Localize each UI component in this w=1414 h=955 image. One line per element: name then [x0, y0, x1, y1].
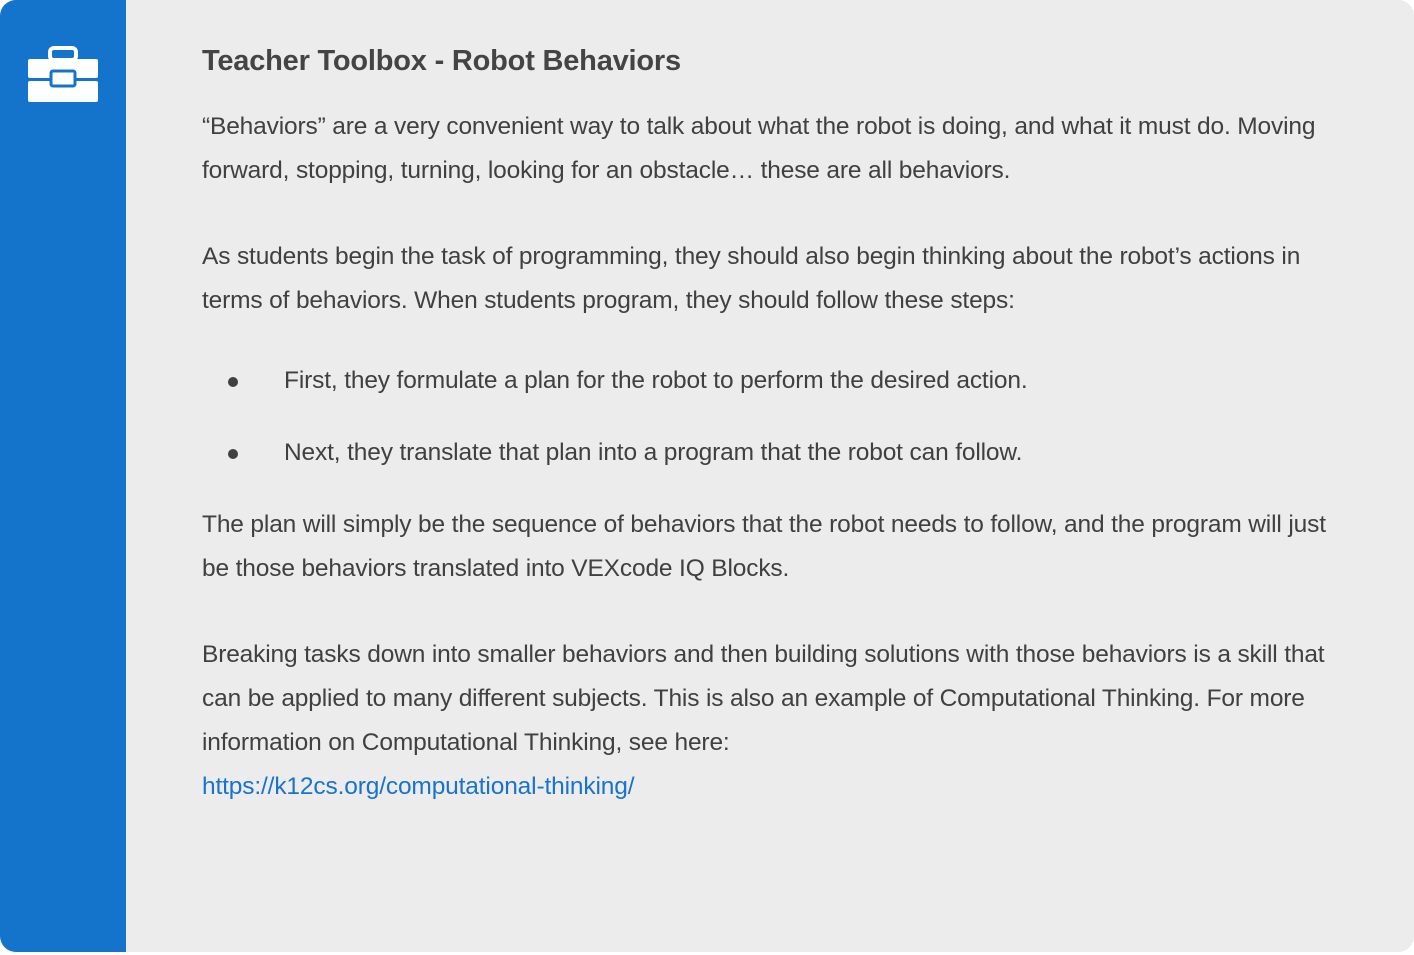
k12cs-link[interactable]: https://k12cs.org/computational-thinking… [202, 773, 634, 800]
intro-paragraph: “Behaviors” are a very convenient way to… [202, 105, 1336, 193]
callout-icon-rail [0, 0, 126, 952]
computational-thinking-paragraph: Breaking tasks down into smaller behavio… [202, 633, 1336, 809]
steps-intro-paragraph: As students begin the task of programmin… [202, 235, 1336, 323]
programming-steps-list: First, they formulate a plan for the rob… [202, 359, 1336, 475]
computational-thinking-text: Breaking tasks down into smaller behavio… [202, 641, 1324, 756]
list-item: First, they formulate a plan for the rob… [228, 359, 1336, 403]
callout-body: Teacher Toolbox - Robot Behaviors “Behav… [126, 0, 1414, 952]
page-title: Teacher Toolbox - Robot Behaviors [202, 44, 1336, 79]
plan-paragraph: The plan will simply be the sequence of … [202, 503, 1336, 591]
list-item: Next, they translate that plan into a pr… [228, 431, 1336, 475]
toolbox-icon [26, 46, 100, 104]
teacher-toolbox-callout: Teacher Toolbox - Robot Behaviors “Behav… [0, 0, 1414, 952]
